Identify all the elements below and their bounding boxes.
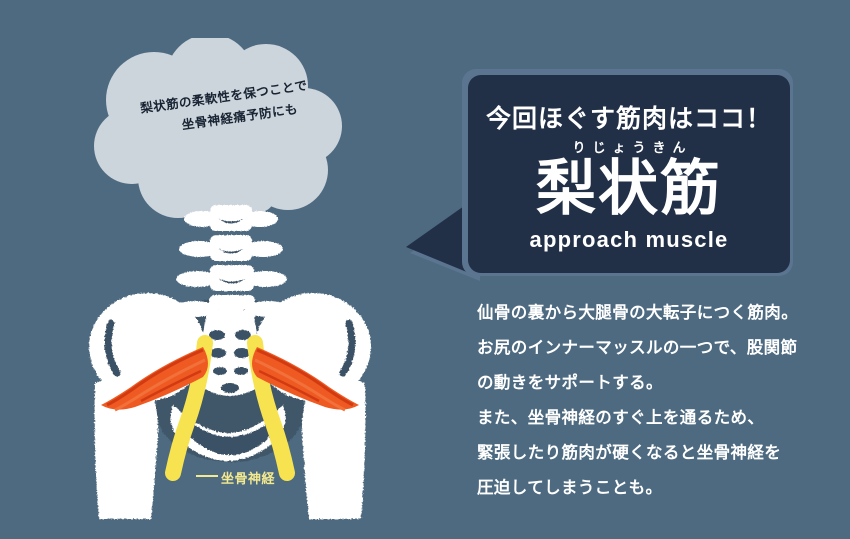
- nerve-label: 坐骨神経: [221, 468, 275, 487]
- title-card-subtitle: approach muscle: [468, 227, 790, 253]
- title-card-muscle-name: 梨状筋: [468, 153, 790, 225]
- title-card-heading: 今回ほぐす筋肉はココ！: [468, 99, 790, 135]
- poster-canvas: 梨状筋の柔軟性を保つことで 坐骨神経痛予防にも 今回ほぐす筋肉はココ！ りじょう…: [0, 0, 850, 539]
- title-card: 今回ほぐす筋肉はココ！ りじょうきん 梨状筋 approach muscle: [468, 75, 790, 273]
- description-line-6: 圧迫してしまうことも。: [477, 471, 837, 506]
- nerve-label-leader-line: [196, 470, 220, 482]
- description-text: 仙骨の裏から大腿骨の大転子につく筋肉。 お尻のインナーマッスルの一つで、股関節 …: [477, 296, 837, 506]
- description-line-1: 仙骨の裏から大腿骨の大転子につく筋肉。: [477, 296, 837, 331]
- description-line-5: 緊張したり筋肉が硬くなると坐骨神経を: [477, 436, 837, 471]
- thought-bubble: 梨状筋の柔軟性を保つことで 坐骨神経痛予防にも: [92, 38, 342, 218]
- description-line-4: また、坐骨神経のすぐ上を通るため、: [477, 401, 837, 436]
- description-line-2: お尻のインナーマッスルの一つで、股関節: [477, 331, 837, 366]
- description-line-3: の動きをサポートする。: [477, 366, 837, 401]
- lumbar-spine: [173, 205, 290, 321]
